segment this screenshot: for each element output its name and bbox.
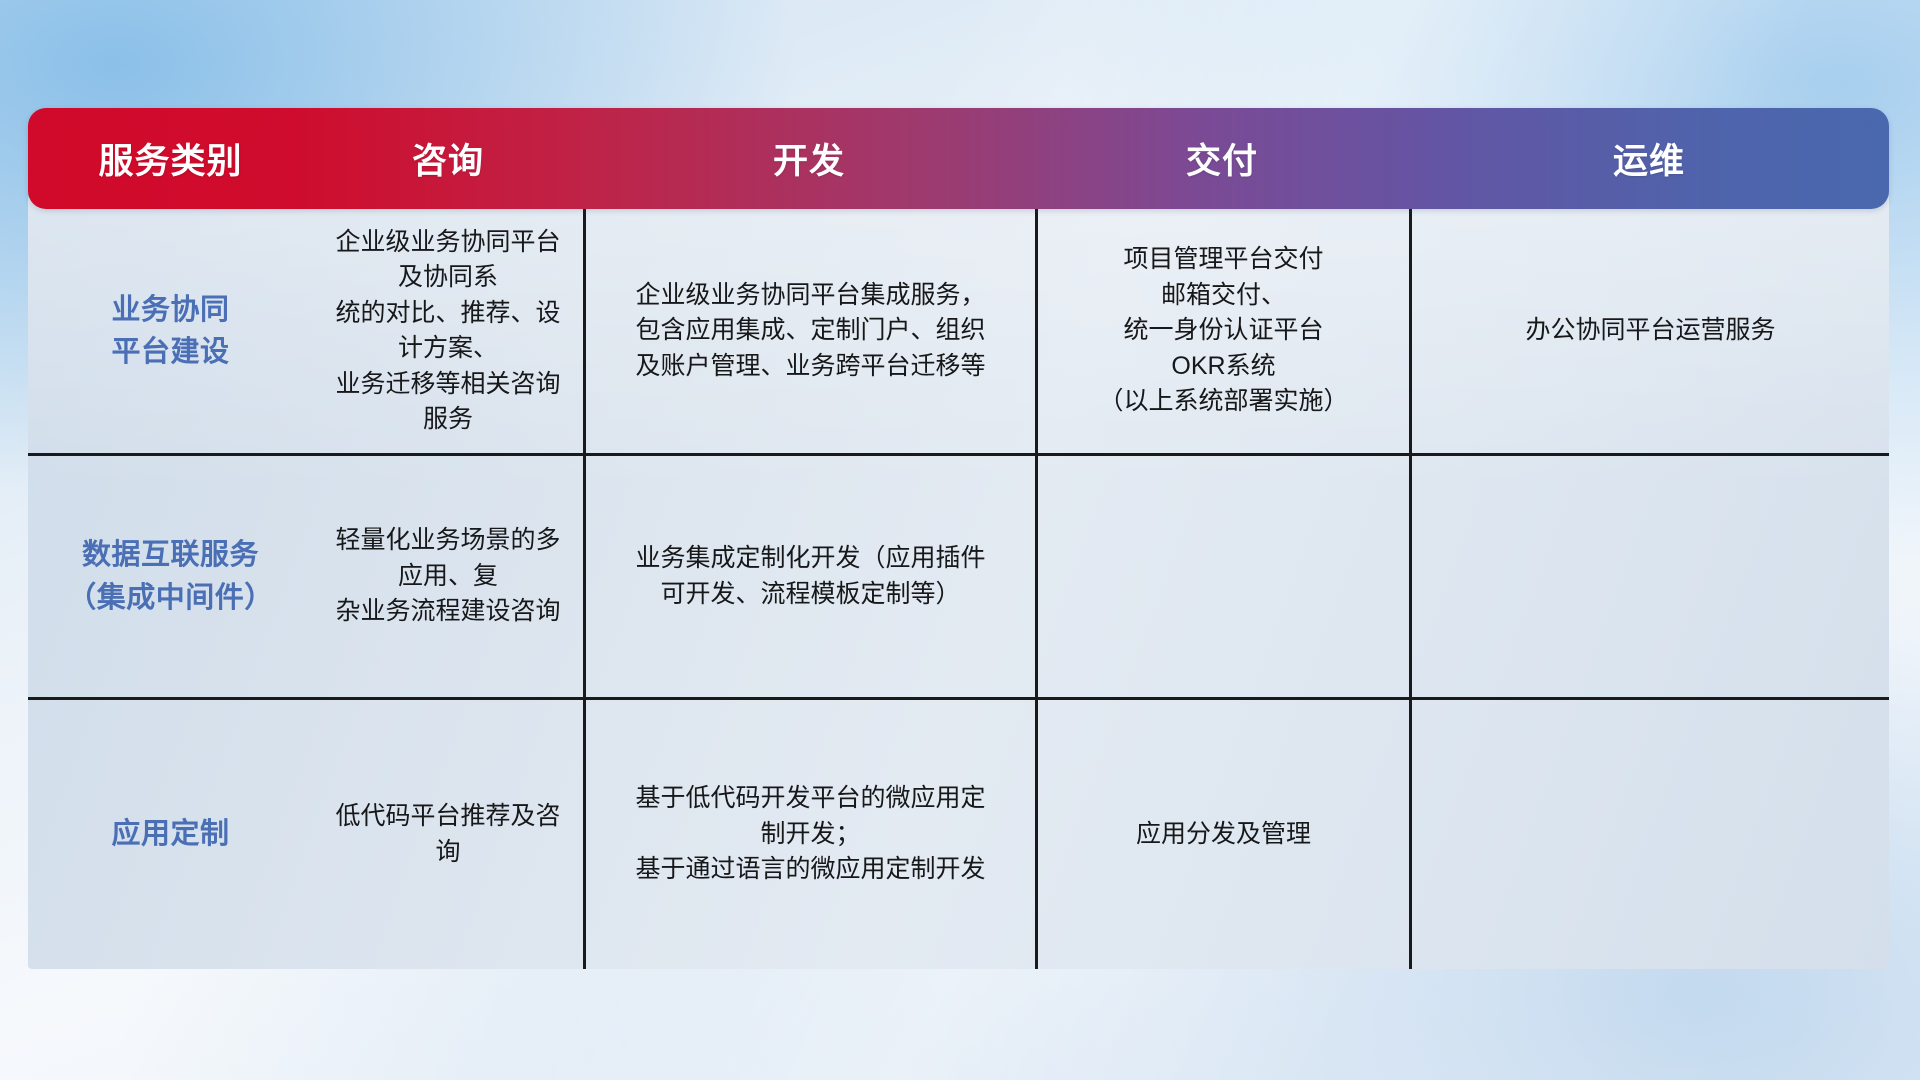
row-3-operations — [1409, 700, 1889, 969]
row-3-consulting: 低代码平台推荐及咨询 — [313, 700, 583, 969]
column-header-consulting: 咨询 — [313, 108, 583, 209]
row-1-operations: 办公协同平台运营服务 — [1409, 209, 1889, 453]
table-row: 数据互联服务 （集成中间件） 轻量化业务场景的多应用、复 杂业务流程建设咨询 业… — [28, 456, 1889, 700]
service-matrix-table: 服务类别 咨询 开发 交付 运维 业务协同 平台建设 企业级业务协同平台及协同系… — [28, 108, 1889, 966]
row-1-consulting: 企业级业务协同平台及协同系 统的对比、推荐、设计方案、 业务迁移等相关咨询服务 — [313, 209, 583, 453]
table-row: 应用定制 低代码平台推荐及咨询 基于低代码开发平台的微应用定 制开发； 基于通过… — [28, 700, 1889, 969]
row-2-operations — [1409, 456, 1889, 697]
column-header-delivery: 交付 — [1035, 108, 1409, 209]
table-row: 业务协同 平台建设 企业级业务协同平台及协同系 统的对比、推荐、设计方案、 业务… — [28, 209, 1889, 456]
row-2-development: 业务集成定制化开发（应用插件 可开发、流程模板定制等） — [583, 456, 1035, 697]
row-1-development: 企业级业务协同平台集成服务， 包含应用集成、定制门户、组织 及账户管理、业务跨平… — [583, 209, 1035, 453]
row-2-category: 数据互联服务 （集成中间件） — [28, 456, 313, 697]
column-header-development: 开发 — [583, 108, 1035, 209]
column-header-service-category: 服务类别 — [28, 108, 313, 209]
table-body: 业务协同 平台建设 企业级业务协同平台及协同系 统的对比、推荐、设计方案、 业务… — [28, 197, 1889, 969]
row-3-development: 基于低代码开发平台的微应用定 制开发； 基于通过语言的微应用定制开发 — [583, 700, 1035, 969]
row-3-delivery: 应用分发及管理 — [1035, 700, 1409, 969]
column-header-operations: 运维 — [1409, 108, 1889, 209]
row-2-consulting: 轻量化业务场景的多应用、复 杂业务流程建设咨询 — [313, 456, 583, 697]
table-header-row: 服务类别 咨询 开发 交付 运维 — [28, 108, 1889, 209]
row-1-delivery: 项目管理平台交付 邮箱交付、 统一身份认证平台 OKR系统 （以上系统部署实施） — [1035, 209, 1409, 453]
row-1-category: 业务协同 平台建设 — [28, 209, 313, 453]
row-2-delivery — [1035, 456, 1409, 697]
row-3-category: 应用定制 — [28, 700, 313, 969]
page-background: 服务类别 咨询 开发 交付 运维 业务协同 平台建设 企业级业务协同平台及协同系… — [0, 0, 1920, 1080]
